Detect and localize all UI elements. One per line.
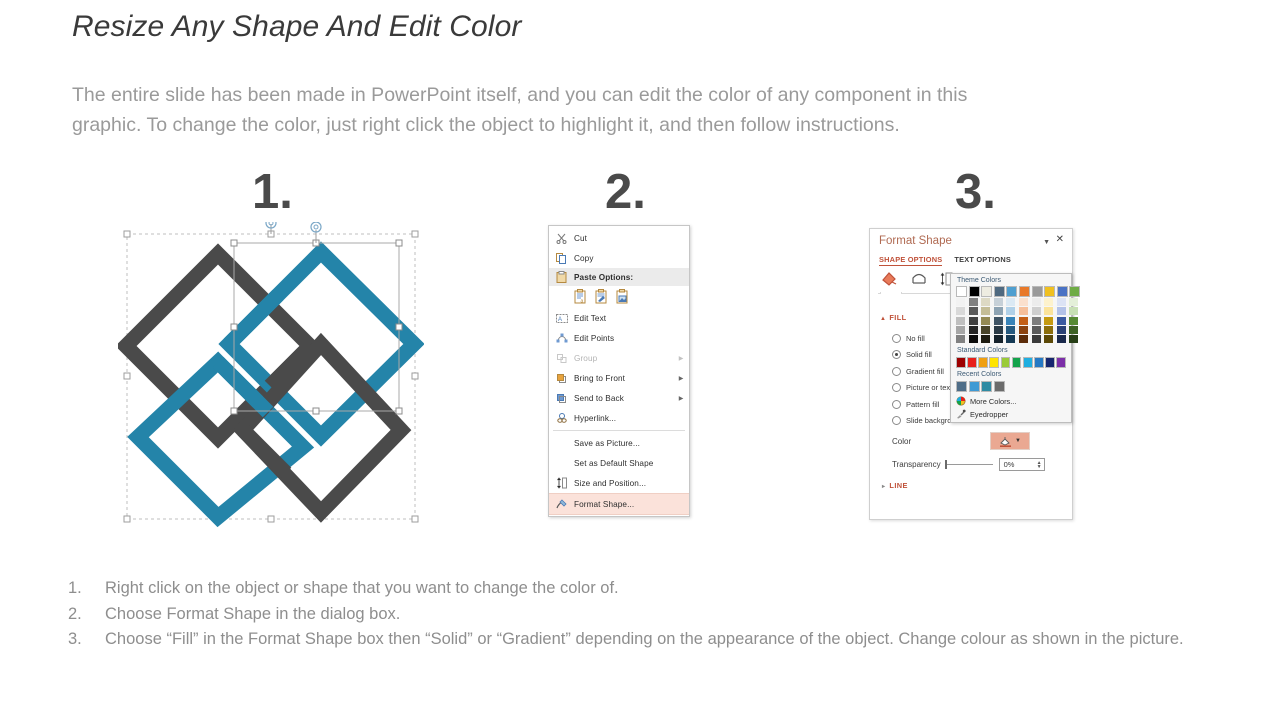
instruction-number-1: 1.: [68, 576, 105, 602]
subtitle-line-1: The entire slide has been made in PowerP…: [72, 80, 1212, 110]
standard-color-swatch[interactable]: [989, 357, 999, 368]
theme-color-swatch[interactable]: [1044, 326, 1053, 334]
theme-color-swatch[interactable]: [1057, 326, 1066, 334]
standard-color-swatch[interactable]: [1034, 357, 1044, 368]
instruction-text-2: Choose Format Shape in the dialog box.: [105, 602, 1278, 628]
menu-item-copy-label: Copy: [570, 254, 686, 263]
theme-color-swatch[interactable]: [994, 286, 1005, 297]
theme-color-swatch[interactable]: [1069, 286, 1080, 297]
svg-text:A: A: [558, 317, 562, 323]
theme-color-swatch[interactable]: [969, 317, 978, 325]
theme-color-swatch[interactable]: [981, 326, 990, 334]
transparency-value: 0%: [1004, 460, 1015, 469]
theme-color-swatch[interactable]: [969, 298, 978, 306]
step-number-3: 3.: [955, 168, 996, 217]
menu-item-hyperlink[interactable]: Hyperlink...: [549, 408, 689, 428]
section-line-header[interactable]: ▸LINE: [882, 481, 908, 490]
slide-canvas: Resize Any Shape And Edit Color The enti…: [0, 0, 1280, 720]
menu-header-paste-options-label: Paste Options:: [570, 273, 686, 282]
svg-text:a: a: [581, 298, 584, 304]
radio-dot-selected: [892, 350, 901, 359]
paste-destination-theme-icon[interactable]: [594, 289, 608, 306]
no-icon: [553, 456, 570, 470]
close-icon[interactable]: ✕: [1056, 235, 1064, 245]
theme-color-swatch[interactable]: [1032, 307, 1041, 315]
menu-item-group[interactable]: Group ▶: [549, 348, 689, 368]
instruction-number-3: 3.: [68, 627, 105, 653]
theme-color-swatch[interactable]: [994, 307, 1003, 315]
instruction-item-1: 1. Right click on the object or shape th…: [68, 576, 1278, 602]
recent-color-swatch[interactable]: [969, 381, 980, 392]
theme-color-swatch[interactable]: [994, 326, 1003, 334]
format-shape-tabs[interactable]: SHAPE OPTIONS TEXT OPTIONS: [879, 255, 1011, 266]
menu-item-edit-points[interactable]: Edit Points: [549, 328, 689, 348]
context-menu[interactable]: Cut Copy Paste Options: a: [548, 225, 690, 517]
theme-color-swatch[interactable]: [994, 335, 1003, 343]
theme-color-column-3[interactable]: [981, 286, 992, 343]
theme-color-swatch[interactable]: [994, 298, 1003, 306]
more-colors-label: More Colors...: [970, 397, 1016, 406]
theme-color-column-7[interactable]: [1032, 286, 1043, 343]
color-picker-button[interactable]: ▼: [990, 432, 1030, 450]
theme-color-column-6[interactable]: [1019, 286, 1030, 343]
paste-picture-icon[interactable]: [615, 289, 629, 306]
theme-color-swatch[interactable]: [1069, 307, 1078, 315]
recent-colors-label: Recent Colors: [951, 370, 1071, 380]
instruction-item-2: 2. Choose Format Shape in the dialog box…: [68, 602, 1278, 628]
fill-line-icon[interactable]: [881, 271, 898, 288]
theme-color-swatch[interactable]: [956, 286, 967, 297]
theme-color-swatch[interactable]: [956, 335, 965, 343]
transparency-row[interactable]: Transparency 0% ▲▼: [892, 458, 1045, 471]
menu-item-size-and-position[interactable]: Size and Position...: [549, 473, 689, 493]
theme-color-swatch[interactable]: [969, 307, 978, 315]
menu-item-edit-text-label: Edit Text: [570, 314, 686, 323]
menu-separator: [553, 430, 685, 431]
theme-colors-label: Theme Colors: [951, 276, 1071, 286]
standard-color-swatch[interactable]: [978, 357, 988, 368]
scissors-icon: [553, 231, 570, 245]
theme-color-swatch[interactable]: [1044, 307, 1053, 315]
send-back-icon: [553, 391, 570, 405]
standard-color-swatch[interactable]: [1023, 357, 1033, 368]
standard-colors-label: Standard Colors: [951, 346, 1071, 356]
menu-item-set-as-default-shape[interactable]: Set as Default Shape: [549, 453, 689, 473]
theme-color-swatch[interactable]: [1006, 286, 1017, 297]
recent-color-swatch[interactable]: [956, 381, 967, 392]
eyedropper-label: Eyedropper: [970, 410, 1008, 419]
format-shape-pane[interactable]: Format Shape ▼ ✕ SHAPE OPTIONS TEXT OPTI…: [869, 228, 1073, 520]
theme-color-swatch[interactable]: [1006, 298, 1015, 306]
step-number-2: 2.: [605, 168, 646, 217]
triangle-expanded-icon: ▲: [880, 316, 886, 322]
recent-color-swatch[interactable]: [981, 381, 992, 392]
theme-color-swatch[interactable]: [1057, 298, 1066, 306]
format-shape-icon: [553, 497, 570, 511]
theme-color-swatch[interactable]: [1019, 317, 1028, 325]
effects-icon[interactable]: [911, 272, 927, 288]
section-fill-header[interactable]: ▲FILL: [880, 313, 907, 322]
theme-color-column-4[interactable]: [994, 286, 1005, 343]
group-icon: [553, 351, 570, 365]
menu-item-group-label: Group: [570, 354, 676, 363]
transparency-spinner[interactable]: 0% ▲▼: [999, 458, 1045, 471]
weave-accent-3: [243, 430, 286, 473]
size-position-icon: [553, 476, 570, 490]
paste-keep-source-icon[interactable]: a: [573, 289, 587, 306]
clipboard-icon: [553, 270, 570, 284]
tab-text-options[interactable]: TEXT OPTIONS: [954, 255, 1011, 266]
menu-item-edit-points-label: Edit Points: [570, 334, 686, 343]
theme-color-swatch[interactable]: [1069, 317, 1078, 325]
menu-item-save-as-picture-label: Save as Picture...: [570, 439, 686, 448]
theme-color-swatch[interactable]: [981, 298, 990, 306]
format-shape-title: Format Shape: [879, 235, 952, 247]
instruction-text-3: Choose “Fill” in the Format Shape box th…: [105, 627, 1278, 653]
menu-item-hyperlink-label: Hyperlink...: [570, 414, 686, 423]
radio-no-fill-label: No fill: [906, 334, 925, 343]
theme-color-swatch[interactable]: [1019, 298, 1028, 306]
recent-color-swatch[interactable]: [994, 381, 1005, 392]
theme-color-swatch[interactable]: [1019, 307, 1028, 315]
theme-color-swatch[interactable]: [1032, 335, 1041, 343]
theme-color-swatch[interactable]: [1044, 298, 1053, 306]
radio-dot: [892, 400, 901, 409]
interlocking-diamonds-svg[interactable]: [118, 222, 424, 528]
radio-pattern-fill-label: Pattern fill: [906, 400, 939, 409]
standard-color-swatch[interactable]: [1045, 357, 1055, 368]
instruction-number-2: 2.: [68, 602, 105, 628]
menu-item-bring-to-front-label: Bring to Front: [570, 374, 676, 383]
theme-color-swatch[interactable]: [1006, 326, 1015, 334]
tab-shape-options[interactable]: SHAPE OPTIONS: [879, 255, 942, 266]
more-colors-item[interactable]: More Colors...: [951, 395, 1071, 408]
theme-color-swatch[interactable]: [1044, 317, 1053, 325]
format-shape-icon-row[interactable]: [881, 271, 954, 288]
fill-bucket-icon: [999, 436, 1012, 447]
menu-item-cut-label: Cut: [570, 234, 686, 243]
theme-color-swatch[interactable]: [1019, 326, 1028, 334]
hyperlink-icon: [553, 411, 570, 425]
recent-colors-row[interactable]: [951, 380, 1071, 395]
theme-color-column-5[interactable]: [1006, 286, 1017, 343]
eyedropper-icon: [956, 409, 966, 419]
theme-color-swatch[interactable]: [1069, 298, 1078, 306]
theme-color-swatch[interactable]: [1044, 335, 1053, 343]
theme-color-swatch[interactable]: [1019, 335, 1028, 343]
theme-color-swatch[interactable]: [1069, 335, 1078, 343]
section-fill-label: FILL: [889, 313, 906, 322]
menu-item-format-shape-label: Format Shape...: [570, 500, 686, 509]
theme-color-swatch[interactable]: [956, 307, 965, 315]
theme-color-swatch[interactable]: [1006, 335, 1015, 343]
menu-item-cut[interactable]: Cut: [549, 228, 689, 248]
radio-dot: [892, 367, 901, 376]
theme-color-column-2[interactable]: [969, 286, 980, 343]
chevron-right-icon: ▶: [676, 395, 686, 402]
color-dropdown[interactable]: Theme Colors Standard Colors Recent Colo…: [950, 273, 1072, 423]
menu-item-copy[interactable]: Copy: [549, 248, 689, 268]
subtitle-line-2: graphic. To change the color, just right…: [72, 110, 1212, 140]
menu-item-edit-text[interactable]: A Edit Text: [549, 308, 689, 328]
spinner-arrows[interactable]: ▲▼: [1037, 461, 1042, 469]
theme-color-swatch[interactable]: [981, 335, 990, 343]
theme-color-swatch[interactable]: [969, 335, 978, 343]
theme-colors-grid[interactable]: [951, 286, 1071, 343]
theme-color-swatch[interactable]: [1057, 307, 1066, 315]
theme-color-swatch[interactable]: [1057, 286, 1068, 297]
theme-color-swatch[interactable]: [1044, 286, 1055, 297]
menu-item-save-as-picture[interactable]: Save as Picture...: [549, 433, 689, 453]
standard-colors-row[interactable]: [951, 356, 1071, 370]
theme-color-swatch[interactable]: [994, 317, 1003, 325]
step-number-1: 1.: [252, 168, 293, 217]
chevron-down-icon[interactable]: ▼: [1043, 239, 1050, 246]
bring-front-icon: [553, 371, 570, 385]
menu-header-paste-options: Paste Options:: [549, 268, 689, 286]
copy-icon: [553, 251, 570, 265]
theme-color-swatch[interactable]: [1032, 298, 1041, 306]
menu-item-send-to-back[interactable]: Send to Back ▶: [549, 388, 689, 408]
no-icon: [553, 436, 570, 450]
theme-color-swatch[interactable]: [956, 298, 965, 306]
palette-icon: [956, 396, 966, 406]
theme-color-swatch[interactable]: [1006, 307, 1015, 315]
triangle-collapsed-icon: ▸: [882, 483, 885, 490]
theme-color-swatch[interactable]: [1057, 317, 1066, 325]
radio-dot: [892, 383, 901, 392]
theme-color-swatch[interactable]: [1032, 286, 1043, 297]
page-subtitle: The entire slide has been made in PowerP…: [72, 80, 1212, 140]
theme-color-column-1[interactable]: [956, 286, 967, 343]
theme-color-column-8[interactable]: [1044, 286, 1055, 343]
menu-item-bring-to-front[interactable]: Bring to Front ▶: [549, 368, 689, 388]
edit-text-icon: A: [553, 311, 570, 325]
paste-options-row[interactable]: a: [549, 286, 689, 308]
theme-color-swatch[interactable]: [1006, 317, 1015, 325]
theme-color-swatch[interactable]: [969, 286, 980, 297]
standard-color-swatch[interactable]: [956, 357, 966, 368]
theme-color-column-9[interactable]: [1057, 286, 1068, 343]
weave-accent-2: [229, 295, 278, 344]
menu-item-set-as-default-shape-label: Set as Default Shape: [570, 459, 686, 468]
eyedropper-item[interactable]: Eyedropper: [951, 408, 1071, 421]
theme-color-swatch[interactable]: [956, 317, 965, 325]
section-line-label: LINE: [889, 481, 907, 490]
edit-points-icon: [553, 331, 570, 345]
shape-graphic-panel[interactable]: [118, 222, 424, 528]
radio-dot: [892, 416, 901, 425]
menu-item-send-to-back-label: Send to Back: [570, 394, 676, 403]
radio-gradient-fill-label: Gradient fill: [906, 367, 944, 376]
menu-item-format-shape[interactable]: Format Shape...: [549, 493, 689, 515]
theme-color-swatch[interactable]: [1057, 335, 1066, 343]
instruction-item-3: 3. Choose “Fill” in the Format Shape box…: [68, 627, 1278, 653]
page-title: Resize Any Shape And Edit Color: [72, 10, 521, 44]
radio-dot: [892, 334, 901, 343]
theme-color-swatch[interactable]: [981, 307, 990, 315]
theme-color-swatch[interactable]: [956, 326, 965, 334]
standard-color-swatch[interactable]: [967, 357, 977, 368]
chevron-right-icon: ▶: [676, 375, 686, 382]
slider-knob[interactable]: [945, 460, 947, 469]
theme-color-column-10[interactable]: [1069, 286, 1080, 343]
menu-item-size-and-position-label: Size and Position...: [570, 479, 686, 488]
standard-color-swatch[interactable]: [1012, 357, 1022, 368]
instruction-text-1: Right click on the object or shape that …: [105, 576, 1278, 602]
spinner-down-icon[interactable]: ▼: [1037, 465, 1042, 469]
theme-color-swatch[interactable]: [969, 326, 978, 334]
chevron-down-icon[interactable]: ▼: [1015, 438, 1021, 444]
theme-color-swatch[interactable]: [1032, 317, 1041, 325]
instruction-list: 1. Right click on the object or shape th…: [68, 576, 1278, 653]
radio-solid-fill-label: Solid fill: [906, 350, 932, 359]
transparency-slider[interactable]: [947, 464, 993, 465]
theme-color-swatch[interactable]: [981, 286, 992, 297]
standard-color-swatch[interactable]: [1001, 357, 1011, 368]
theme-color-swatch[interactable]: [1069, 326, 1078, 334]
transparency-label: Transparency: [892, 460, 941, 469]
theme-color-swatch[interactable]: [981, 317, 990, 325]
color-label: Color: [892, 437, 911, 446]
theme-color-swatch[interactable]: [1019, 286, 1030, 297]
theme-color-swatch[interactable]: [1032, 326, 1041, 334]
standard-color-swatch[interactable]: [1056, 357, 1066, 368]
chevron-right-icon: ▶: [676, 355, 686, 362]
